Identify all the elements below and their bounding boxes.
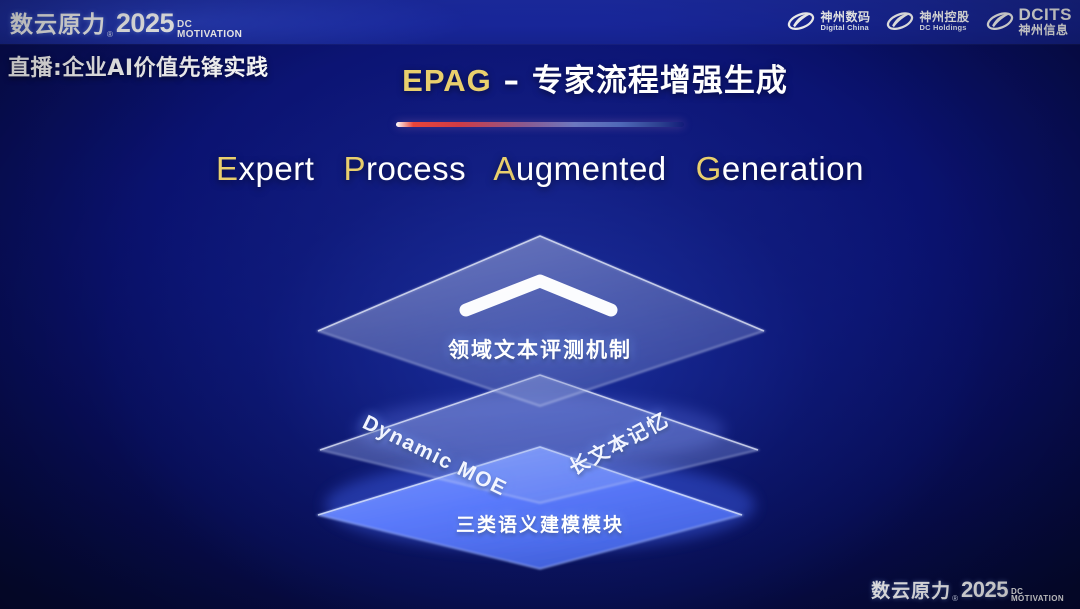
subtitle-word-process: Process xyxy=(343,150,466,187)
swoosh-icon xyxy=(886,8,914,34)
partner-name-cn: 神州控股 xyxy=(919,11,969,24)
layer-label-long-text-memory: 长文本记忆 xyxy=(563,403,674,480)
brand-dc-motivation: DC MOTIVATION xyxy=(177,20,242,39)
subtitle-space xyxy=(476,150,486,187)
presentation-slide: 数云原力 ® 2025 DC MOTIVATION 神州数码 Digital C… xyxy=(0,0,1080,609)
title-acronym: EPAG xyxy=(402,63,492,98)
partner-name-cn: 神州信息 xyxy=(1019,24,1073,37)
subtitle-cap: G xyxy=(696,150,722,187)
swoosh-icon xyxy=(986,8,1014,34)
layer-label-top: 领域文本评测机制 xyxy=(0,334,1080,364)
title-separator: – xyxy=(492,63,532,99)
subtitle-rest: rocess xyxy=(366,150,466,187)
brand-motivation-label: MOTIVATION xyxy=(177,30,242,40)
subtitle-space xyxy=(324,150,334,187)
subtitle-rest: ugmented xyxy=(516,150,667,187)
subtitle-word-augmented: Augmented xyxy=(493,150,666,187)
partner-text-dcits: DCITS 神州信息 xyxy=(1019,6,1073,36)
partner-name-en: DCITS xyxy=(1019,6,1073,24)
partner-name-cn: 神州数码 xyxy=(820,11,870,24)
partner-name-en: DC Holdings xyxy=(919,24,969,32)
brand-logo-top: 数云原力 ® 2025 DC MOTIVATION xyxy=(10,5,242,39)
partner-logo-dc-holdings: 神州控股 DC Holdings xyxy=(886,8,969,34)
bottom-layer-glow xyxy=(325,459,755,551)
layer-bottom xyxy=(318,447,742,569)
subtitle-word-expert: Expert xyxy=(216,150,314,187)
brand-dc-motivation: DC MOTIVATION xyxy=(1011,588,1064,603)
gradient-divider xyxy=(396,122,684,127)
partner-name-en: Digital China xyxy=(820,24,870,32)
partner-logo-digital-china: 神州数码 Digital China xyxy=(787,8,870,34)
chevron-up-icon xyxy=(466,281,611,310)
brand-year: 2025 xyxy=(116,8,174,39)
brand-registered-mark: ® xyxy=(107,30,113,39)
subtitle-space xyxy=(676,150,686,187)
brand-registered-mark: ® xyxy=(952,594,958,603)
brand-year: 2025 xyxy=(961,577,1008,603)
subtitle-cap: E xyxy=(216,150,239,187)
title-chinese: 专家流程增强生成 xyxy=(532,63,788,99)
page-subtitle: Expert Process Augmented Generation xyxy=(0,150,1080,188)
live-broadcast-title: 直播:企业AI价值先锋实践 xyxy=(8,50,269,82)
partner-logo-dcits: DCITS 神州信息 xyxy=(986,6,1073,36)
layer-label-dynamic-moe: Dynamic MOE xyxy=(358,411,510,502)
subtitle-word-generation: Generation xyxy=(696,150,864,187)
brand-name-cn: 数云原力 xyxy=(871,576,951,603)
brand-name-cn: 数云原力 xyxy=(10,5,106,39)
subtitle-rest: eneration xyxy=(722,150,864,187)
brand-logo-watermark: 数云原力 ® 2025 DC MOTIVATION xyxy=(871,576,1064,603)
partner-text-digital-china: 神州数码 Digital China xyxy=(820,11,870,31)
subtitle-rest: xpert xyxy=(239,150,315,187)
layer-label-bottom: 三类语义建模模块 xyxy=(0,510,1080,537)
brand-motivation-label: MOTIVATION xyxy=(1011,595,1064,603)
layer-top xyxy=(318,236,764,406)
subtitle-cap: P xyxy=(343,150,366,187)
partner-text-dc-holdings: 神州控股 DC Holdings xyxy=(919,11,969,31)
swoosh-icon xyxy=(787,8,815,34)
partner-logo-group: 神州数码 Digital China 神州控股 DC Holdings xyxy=(787,6,1072,36)
subtitle-cap: A xyxy=(493,150,516,187)
